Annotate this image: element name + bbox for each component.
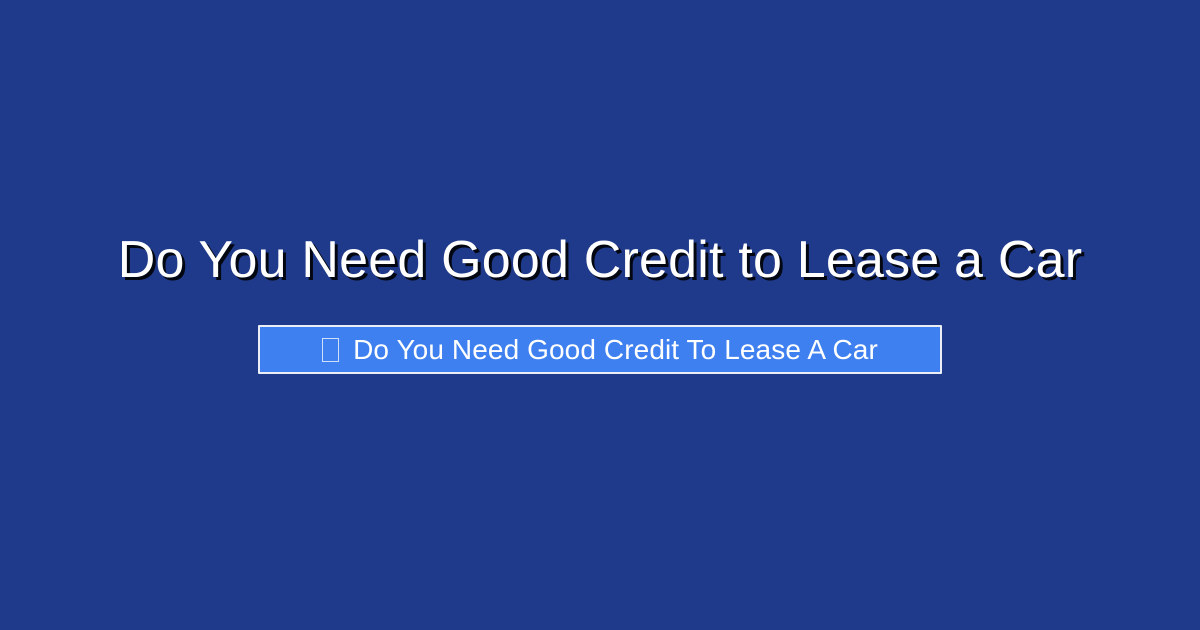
cta-button-label: Do You Need Good Credit To Lease A Car [353,336,878,364]
missing-glyph-box-icon [322,338,339,362]
cta-button[interactable]: Do You Need Good Credit To Lease A Car [258,325,942,374]
page-title: Do You Need Good Credit to Lease a Car [0,232,1200,288]
og-image-card: Do You Need Good Credit to Lease a Car D… [0,0,1200,630]
cta-container: Do You Need Good Credit To Lease A Car [0,325,1200,374]
